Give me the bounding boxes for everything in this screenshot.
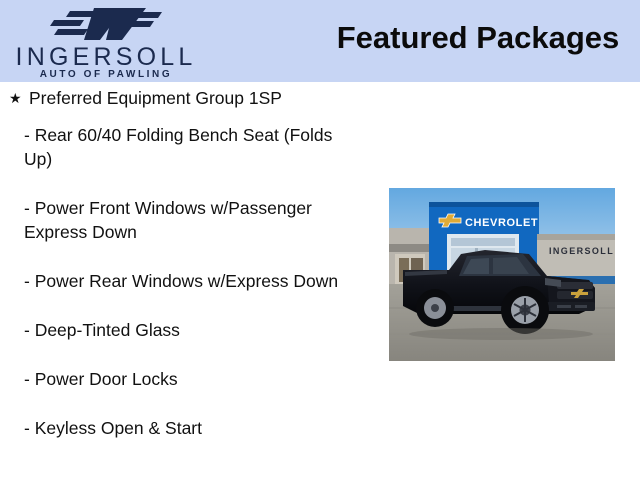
slide-page: INGERSOLL AUTO OF PAWLING Featured Packa… xyxy=(0,0,640,480)
list-item: - Power Front Windows w/Passenger Expres… xyxy=(0,196,350,244)
list-item: - Power Rear Windows w/Express Down xyxy=(0,269,350,293)
svg-text:CHEVROLET: CHEVROLET xyxy=(465,217,538,229)
brand-wordmark: INGERSOLL xyxy=(8,45,204,70)
brand-logo: INGERSOLL AUTO OF PAWLING xyxy=(0,2,210,82)
list-item: - Keyless Open & Start xyxy=(0,416,350,440)
brand-tagline: AUTO OF PAWLING xyxy=(8,70,204,80)
ingersoll-wing-emblem-icon xyxy=(50,6,168,42)
vehicle-photo: CHEVROLET INGERSOLL xyxy=(389,188,615,361)
feature-group-label: Preferred Equipment Group 1SP xyxy=(29,88,282,108)
page-title: Featured Packages xyxy=(330,21,626,55)
list-item: - Rear 60/40 Folding Bench Seat (Folds U… xyxy=(0,123,350,171)
star-icon: ★ xyxy=(9,88,22,109)
feature-group-heading: ★ Preferred Equipment Group 1SP xyxy=(0,88,380,109)
list-item: - Deep-Tinted Glass xyxy=(0,318,350,342)
header-band: INGERSOLL AUTO OF PAWLING Featured Packa… xyxy=(0,0,640,82)
list-item: - Power Door Locks xyxy=(0,367,350,391)
svg-text:INGERSOLL: INGERSOLL xyxy=(549,246,614,256)
featured-packages-list: ★ Preferred Equipment Group 1SP - Rear 6… xyxy=(0,88,380,449)
